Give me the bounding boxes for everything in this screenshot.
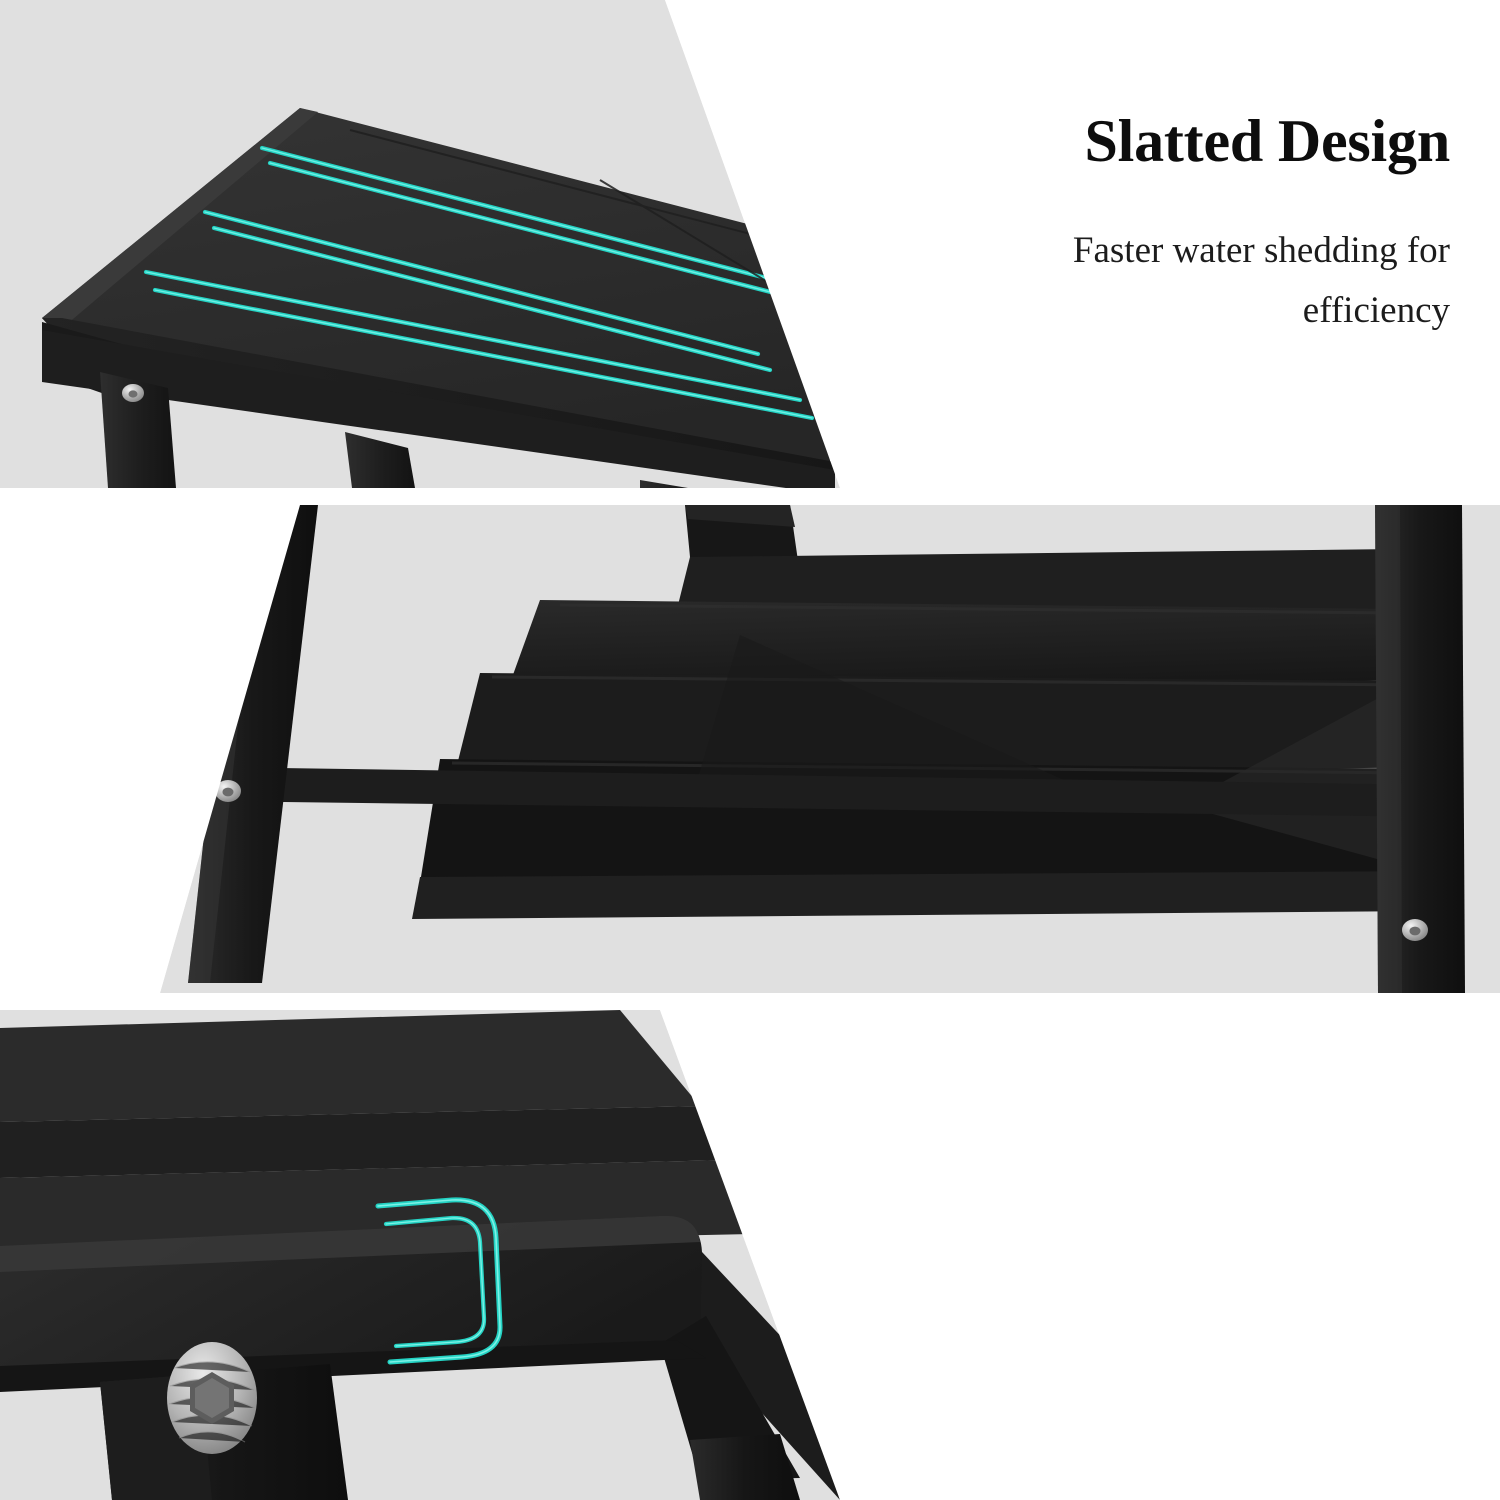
screw-slot-icon	[223, 788, 234, 797]
screw-icon	[167, 1342, 257, 1454]
feature-text-slatted-design: Slatted Design Faster water shedding for…	[935, 108, 1450, 341]
screw-slot-icon	[1410, 927, 1421, 936]
feature-body: Faster water shedding for efficiency	[935, 221, 1450, 341]
feature-panel-blunted-edge: Blunted Edge Ensures safe play for child…	[0, 1010, 1500, 1500]
table-leg-right-highlight	[1375, 505, 1402, 993]
feature-panel-double-layered-desktop: Double-Layered Desktop Double-Layered De…	[0, 505, 1500, 993]
infographic-board: Slatted Design Faster water shedding for…	[0, 0, 1500, 1500]
feature-panel-slatted-design: Slatted Design Faster water shedding for…	[0, 0, 1500, 488]
feature-headline: Slatted Design	[935, 108, 1450, 175]
shelf-front-lip	[412, 871, 1432, 919]
product-photo-double-layered-desktop	[0, 505, 1500, 993]
product-photo-blunted-edge	[0, 1010, 1500, 1500]
rear-slat-1	[0, 1010, 700, 1122]
screw-slot-icon	[129, 390, 138, 397]
